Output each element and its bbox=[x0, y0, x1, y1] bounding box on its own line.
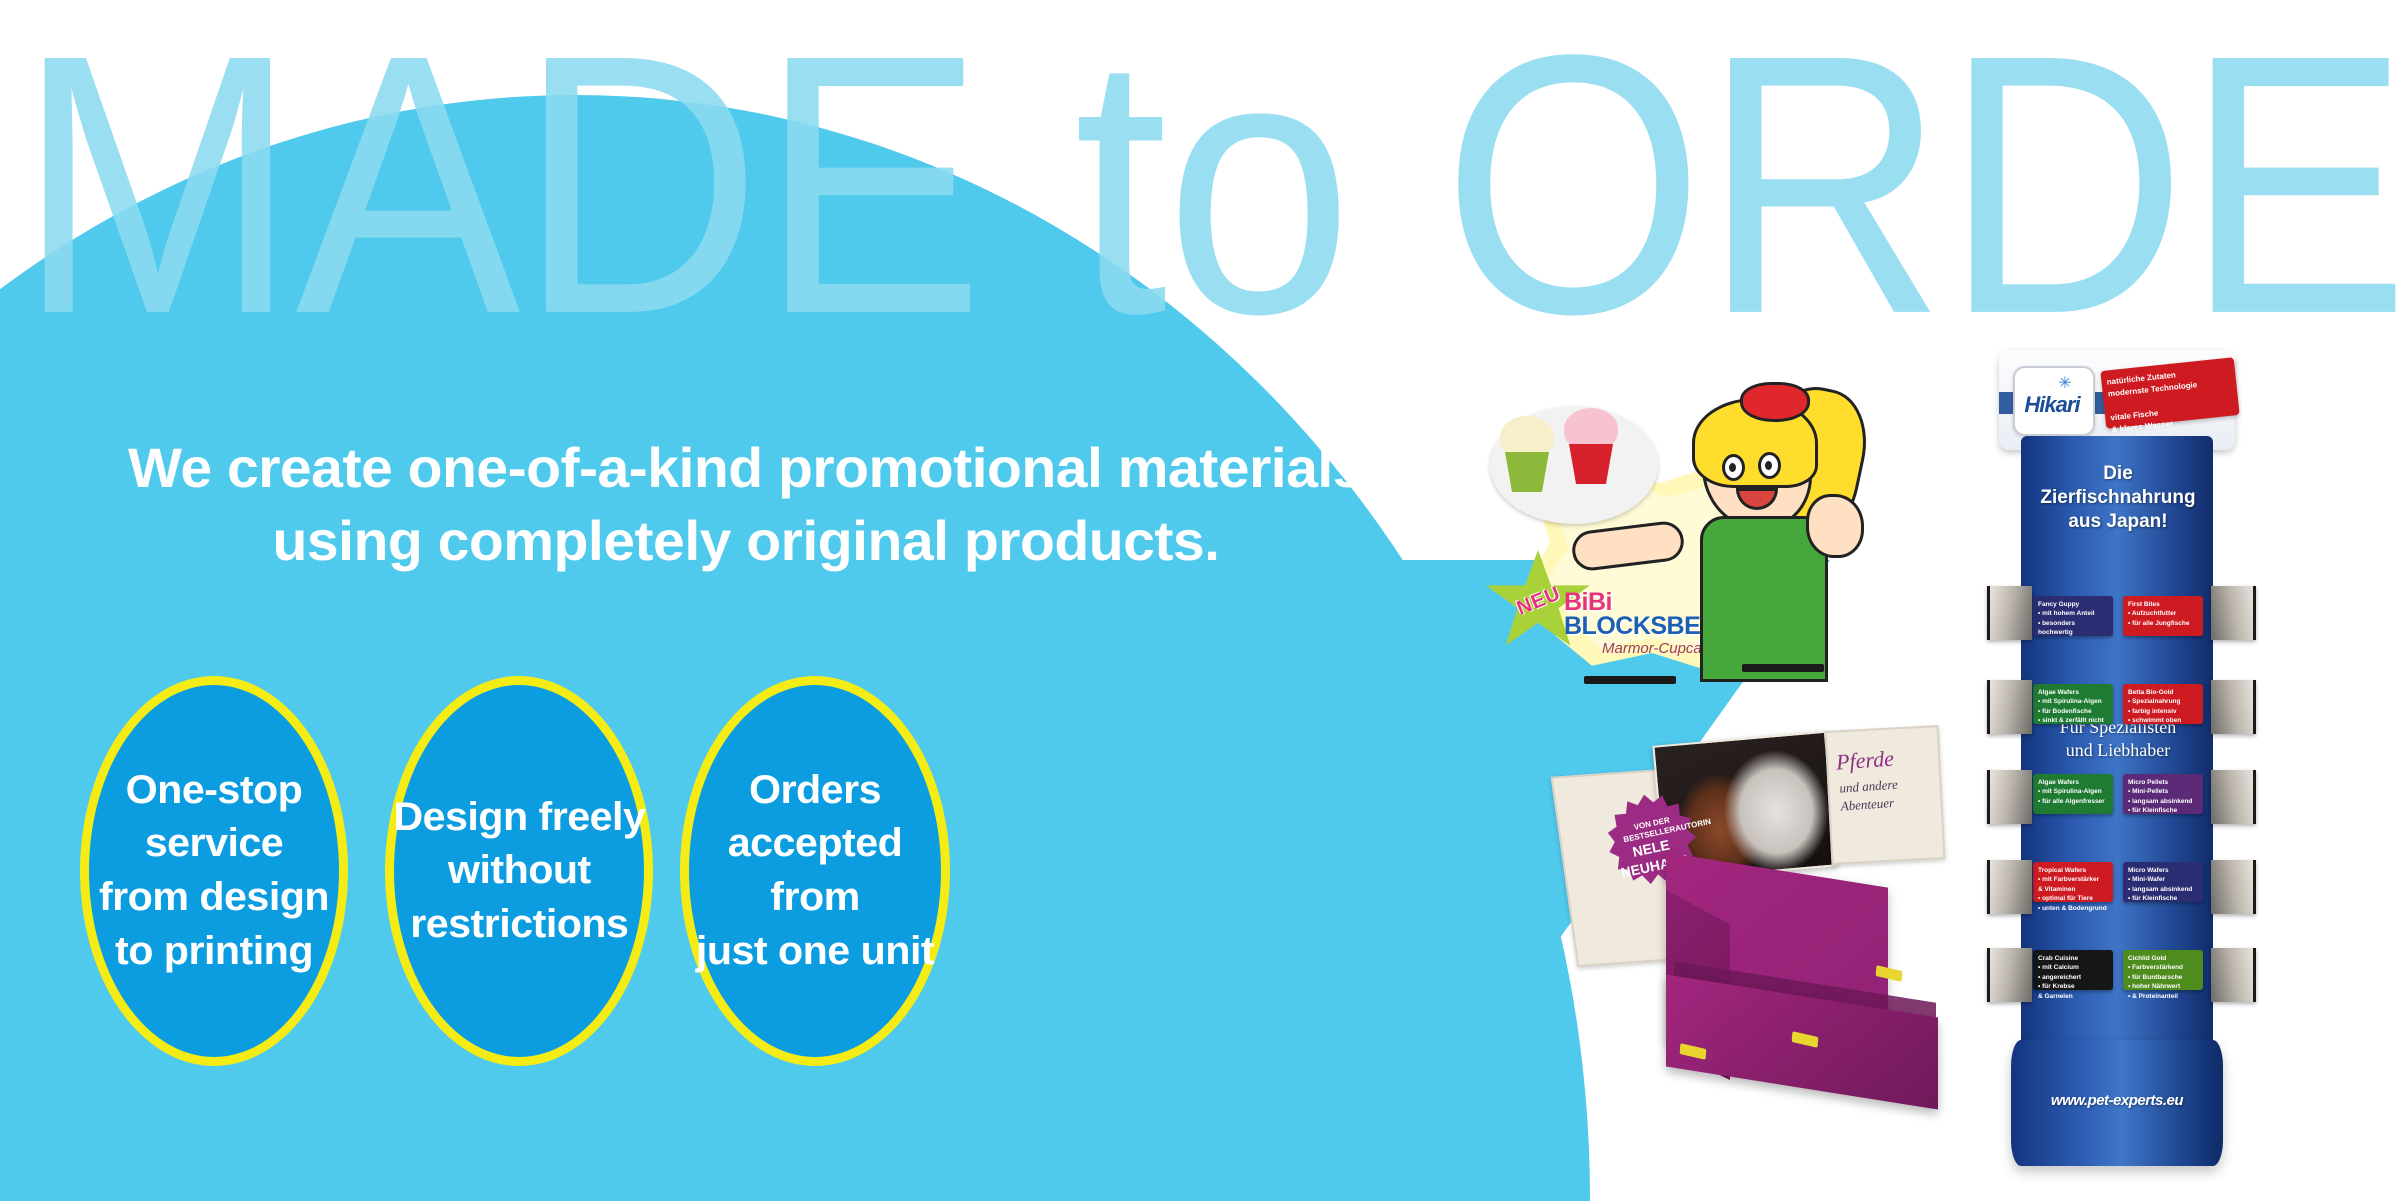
feature-bubble-design-freely[interactable]: Design freely without restrictions bbox=[385, 676, 653, 1066]
tower-product-label: Betta Bio-Gold • Spezialnahrung • farbig… bbox=[2123, 684, 2203, 724]
tagline-line-1: We create one-of-a-kind promotional mate… bbox=[22, 432, 1470, 505]
product-photo-hikari-tower: ✳ Hikari natürliche Zutaten modernste Te… bbox=[1985, 350, 2285, 1180]
tower-product-pocket bbox=[2211, 770, 2256, 824]
standee-foot-right bbox=[1742, 664, 1824, 672]
cupcake-frosting bbox=[1564, 408, 1618, 450]
product-photo-book-display: Pferde und andere Abenteuer VON DER BEST… bbox=[1560, 724, 1980, 1124]
tower-product-pocket bbox=[2211, 860, 2256, 914]
tagline-line-2: using completely original products. bbox=[22, 505, 1470, 578]
tower-product-label-text: Crab Cuisine • mit Calcium • angereicher… bbox=[2033, 950, 2113, 1001]
feature-bubbles: One-stop service from design to printing… bbox=[80, 676, 960, 1066]
tower-product-label-text: Fancy Guppy • mit hohem Anteil • besonde… bbox=[2033, 596, 2113, 638]
tower-product-label: Micro Pellets • Mini-Pellets • langsam a… bbox=[2123, 774, 2203, 814]
tower-product-label: Micro Wafers • Mini-Wafer • langsam absi… bbox=[2123, 862, 2203, 902]
tower-product-label: First Bites • Aufzuchtfutter • für alle … bbox=[2123, 596, 2203, 636]
tower-logo-text: Hikari bbox=[2015, 392, 2089, 418]
cupcake-liner bbox=[1569, 444, 1613, 484]
tower-product-pocket bbox=[2211, 586, 2256, 640]
tower-product-label-text: First Bites • Aufzuchtfutter • für alle … bbox=[2123, 596, 2203, 628]
page-title: MADE to ORDER bbox=[0, 0, 2401, 377]
standee-foot-left bbox=[1584, 676, 1676, 684]
tower-product-pocket bbox=[1987, 680, 2032, 734]
feature-bubble-one-unit-orders[interactable]: Orders accepted from just one unit bbox=[680, 676, 950, 1066]
girl-eye-left bbox=[1722, 454, 1745, 481]
feature-bubble-label: Design freely without restrictions bbox=[391, 791, 647, 952]
tower-product-label: Algae Wafers • mit Spirulina-Algen • für… bbox=[2033, 774, 2113, 814]
asterisk-star-icon: ✳ bbox=[2057, 376, 2073, 392]
tower-product-label: Crab Cuisine • mit Calcium • angereicher… bbox=[2033, 950, 2113, 990]
tower-product-label-text: Algae Wafers • mit Spirulina-Algen • für… bbox=[2033, 684, 2113, 726]
tower-claim-top: Die Zierfischnahrung aus Japan! bbox=[2023, 462, 2213, 533]
tower-product-label-text: Algae Wafers • mit Spirulina-Algen • für… bbox=[2033, 774, 2113, 806]
feature-bubble-one-stop-service[interactable]: One-stop service from design to printing bbox=[80, 676, 348, 1066]
girl-eye-right bbox=[1758, 452, 1781, 479]
tower-product-pocket bbox=[2211, 948, 2256, 1002]
tower-product-label: Tropical Wafers • mit Farbverstärker & V… bbox=[2033, 862, 2113, 902]
tower-product-pocket bbox=[1987, 860, 2032, 914]
product-photo-cupcake-standee: NEU BiBi BLOCKSBERG Marmor-Cupcakes bbox=[1468, 372, 1872, 700]
girl-hair-bow-icon bbox=[1740, 382, 1810, 422]
tower-product-pocket bbox=[1987, 586, 2032, 640]
cupcake-red bbox=[1560, 408, 1622, 484]
tagline: We create one-of-a-kind promotional mate… bbox=[22, 432, 1470, 578]
tower-product-label: Cichlid Gold • Farbverstärkend • für Bun… bbox=[2123, 950, 2203, 990]
tower-product-label-text: Betta Bio-Gold • Spezialnahrung • farbig… bbox=[2123, 684, 2203, 726]
tower-product-label-text: Micro Wafers • Mini-Wafer • langsam absi… bbox=[2123, 862, 2203, 904]
tower-product-label: Algae Wafers • mit Spirulina-Algen • für… bbox=[2033, 684, 2113, 724]
tower-product-label-text: Micro Pellets • Mini-Pellets • langsam a… bbox=[2123, 774, 2203, 816]
girl-hand-right bbox=[1806, 494, 1864, 558]
tower-product-label: Fancy Guppy • mit hohem Anteil • besonde… bbox=[2033, 596, 2113, 636]
tower-product-pocket bbox=[2211, 680, 2256, 734]
standee-cartoon-girl bbox=[1666, 376, 1866, 676]
book-subtitle: und andere Abenteuer bbox=[1839, 772, 1945, 816]
tower-product-pocket bbox=[1987, 770, 2032, 824]
cupcake-green bbox=[1496, 416, 1558, 492]
cupcake-liner bbox=[1505, 452, 1549, 492]
feature-bubble-label: Orders accepted from just one unit bbox=[685, 764, 945, 978]
tower-product-pocket bbox=[1987, 948, 2032, 1002]
made-to-order-banner: MADE to ORDER We create one-of-a-kind pr… bbox=[0, 0, 2401, 1201]
tower-product-label-text: Cichlid Gold • Farbverstärkend • für Bun… bbox=[2123, 950, 2203, 1001]
tower-product-label-text: Tropical Wafers • mit Farbverstärker & V… bbox=[2033, 862, 2113, 913]
cupcake-frosting bbox=[1500, 416, 1554, 458]
feature-bubble-label: One-stop service from design to printing bbox=[85, 764, 343, 978]
tower-base-url: www.pet-experts.eu bbox=[2011, 1092, 2223, 1109]
